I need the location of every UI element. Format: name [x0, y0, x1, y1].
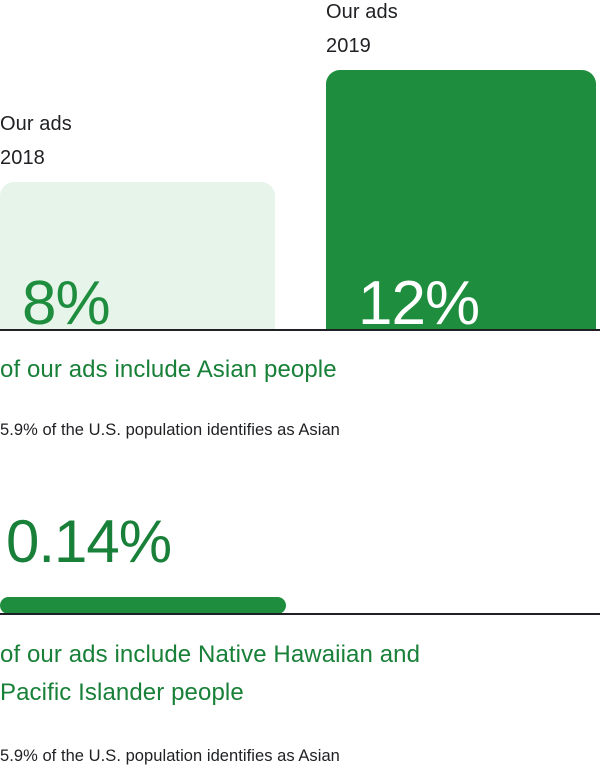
stat-value-nhpi: 0.14% [6, 512, 171, 572]
bar-column-2019: Our ads 2019 12% [326, 0, 596, 329]
bar-caption-2019: Our ads 2019 [326, 0, 596, 63]
bar-nhpi[interactable] [0, 597, 286, 614]
bar-value-2018: 8% [22, 273, 110, 335]
footnote-nhpi: 5.9% of the U.S. population identifies a… [0, 745, 600, 767]
bar-2018[interactable]: 8% [0, 182, 275, 329]
baseline-axis-asian [0, 329, 600, 331]
nhpi-representation-chart: 0.14% of our ads include Native Hawaiian… [0, 450, 600, 775]
baseline-axis-nhpi [0, 613, 600, 615]
footnote-asian: 5.9% of the U.S. population identifies a… [0, 419, 600, 441]
asian-representation-chart: Our ads 2018 8% Our ads 2019 12% of our … [0, 0, 600, 450]
bar-2019[interactable]: 12% [326, 70, 596, 329]
headline-asian: of our ads include Asian people [0, 354, 600, 386]
headline-nhpi: of our ads include Native Hawaiian and P… [0, 636, 600, 712]
bar-column-2018: Our ads 2018 8% [0, 107, 275, 329]
bar-value-2019: 12% [358, 273, 479, 335]
bar-caption-2018: Our ads 2018 [0, 107, 275, 175]
